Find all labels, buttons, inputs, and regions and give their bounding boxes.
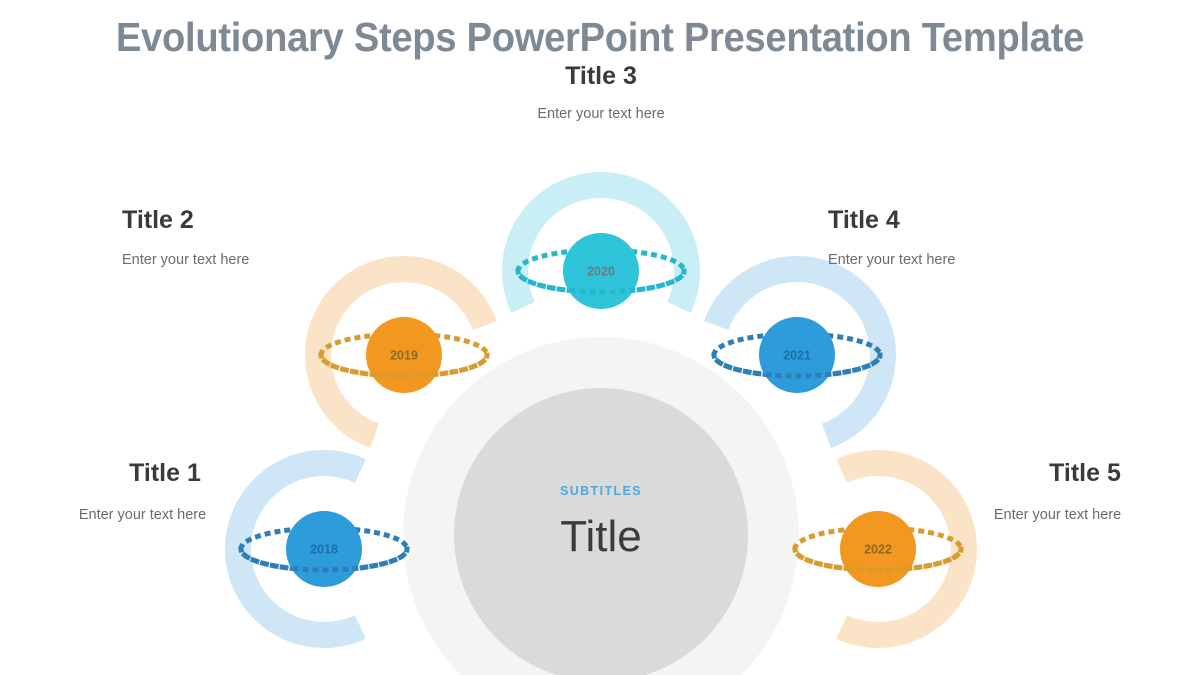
callout-1-body: Enter your text here: [75, 504, 210, 527]
node-year-label-2019: 2019: [390, 349, 418, 363]
node-year-label-2022: 2022: [864, 543, 892, 557]
callout-3-title: Title 3: [451, 62, 751, 91]
slide-canvas: Evolutionary Steps PowerPoint Presentati…: [0, 0, 1200, 675]
node-year-label-2020: 2020: [587, 265, 615, 279]
orbit-node-2020[interactable]: 2020: [502, 172, 700, 313]
callout-title-3: Title 3 Enter your text here: [451, 62, 751, 126]
node-year-label-2018: 2018: [310, 543, 338, 557]
callout-1-title: Title 1: [65, 459, 265, 488]
callout-5-title: Title 5: [990, 459, 1180, 488]
callout-title-4: Title 4 Enter your text here: [828, 206, 1078, 272]
callout-5-body: Enter your text here: [990, 504, 1125, 527]
hub-title: Title: [560, 512, 642, 561]
callout-title-5: Title 5 Enter your text here: [935, 459, 1180, 527]
callout-4-title: Title 4: [828, 206, 1078, 235]
callout-title-1: Title 1 Enter your text here: [20, 459, 265, 527]
callout-title-2: Title 2 Enter your text here: [122, 206, 372, 272]
node-year-label-2021: 2021: [783, 349, 811, 363]
callout-4-body: Enter your text here: [828, 249, 1078, 272]
callout-2-title: Title 2: [122, 206, 372, 235]
callout-2-body: Enter your text here: [122, 249, 372, 272]
hub-subtitle: SUBTITLES: [560, 484, 642, 498]
callout-3-body: Enter your text here: [451, 103, 751, 126]
